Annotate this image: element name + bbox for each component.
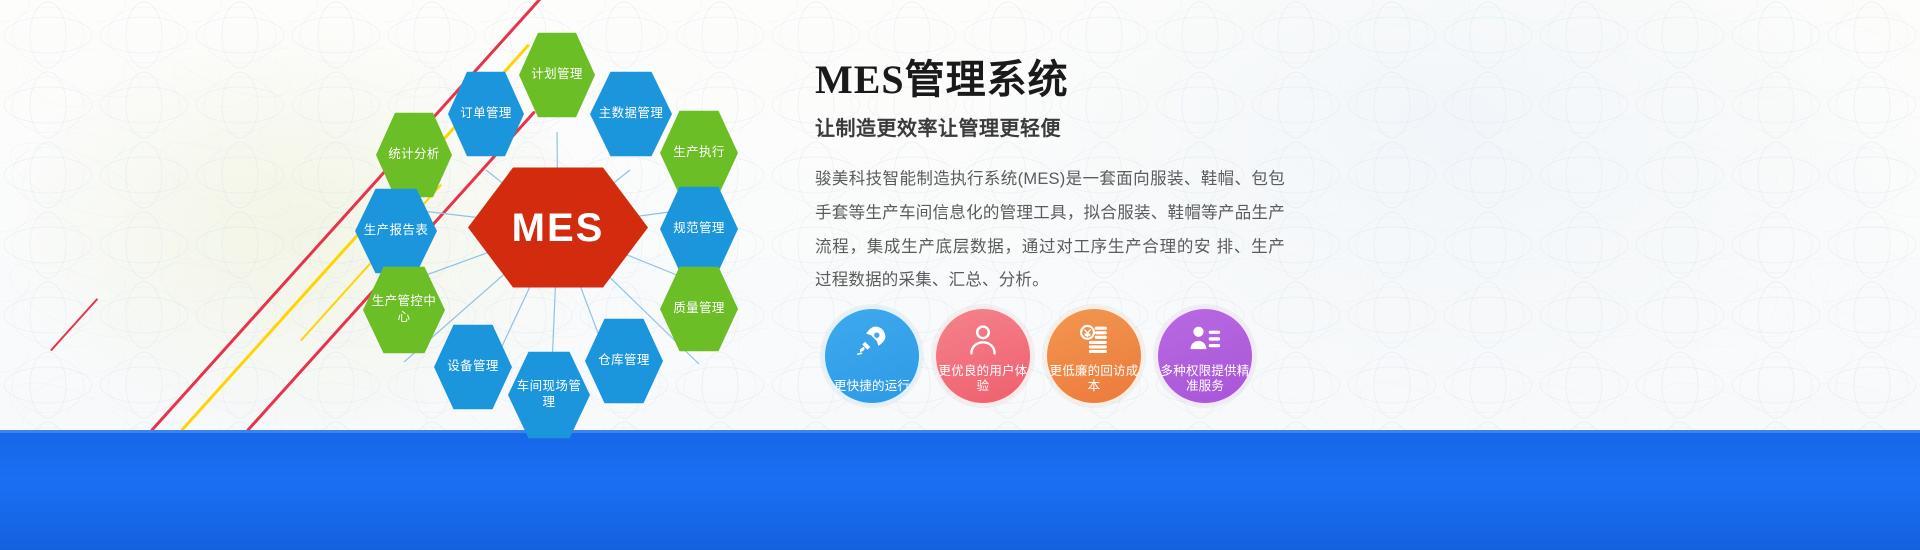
description-paragraph: 骏美科技智能制造执行系统(MES)是一套面向服装、鞋帽、包包手套等生产车间信息化… <box>815 163 1285 298</box>
coins-icon <box>1077 323 1111 362</box>
page-subtitle: 让制造更效率让管理更轻便 <box>815 112 1285 141</box>
page-title: MES管理系统 <box>815 58 1285 102</box>
badge-label: 更快捷的运行 <box>826 379 918 394</box>
copy-block: MES管理系统 让制造更效率让管理更轻便 骏美科技智能制造执行系统(MES)是一… <box>815 58 1285 298</box>
mes-promo-banner: 计划管理订单管理主数据管理统计分析生产执行生产报告表规范管理生产管控中心质量管理… <box>0 0 1920 550</box>
badge-label: 多种权限提供精准服务 <box>1159 364 1251 395</box>
feature-badge-faster-operation[interactable]: 更快捷的运行 <box>822 306 922 406</box>
badge-label: 更优良的用户体验 <box>937 364 1029 395</box>
badge-label: 更低廉的回访成本 <box>1048 364 1140 395</box>
rocket-icon <box>855 323 889 362</box>
feature-badge-multiple-permissions[interactable]: 多种权限提供精准服务 <box>1155 306 1255 406</box>
feature-badge-better-user-experience[interactable]: 更优良的用户体验 <box>933 306 1033 406</box>
mes-hexagon-diagram: 计划管理订单管理主数据管理统计分析生产执行生产报告表规范管理生产管控中心质量管理… <box>330 14 790 434</box>
user-icon <box>966 323 1000 362</box>
id-card-icon <box>1188 323 1222 362</box>
feature-badge-lower-revisit-cost[interactable]: 更低廉的回访成本 <box>1044 306 1144 406</box>
feature-badge-row: 更快捷的运行 更优良的用户体验 <box>822 306 1255 406</box>
background-lower-blue-band <box>0 430 1920 550</box>
